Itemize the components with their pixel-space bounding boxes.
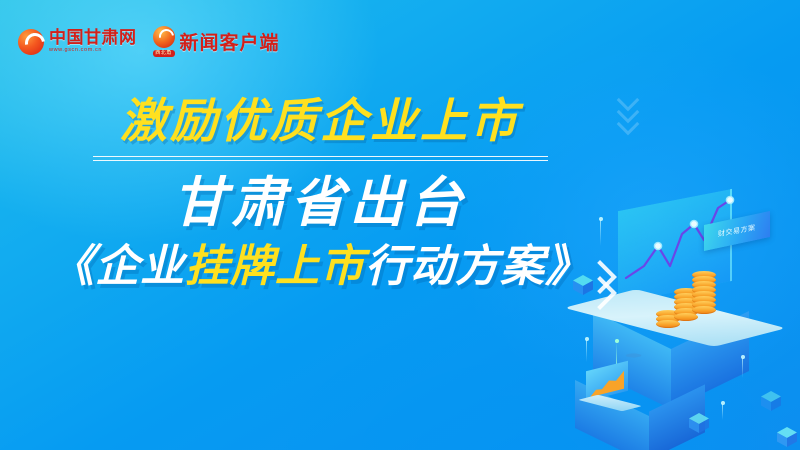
site-logo[interactable]: 中国甘肃网 www.gscn.com.cn (18, 29, 137, 55)
site-logo-name: 中国甘肃网 (49, 29, 137, 46)
accent-tick (586, 340, 587, 362)
accent-tick (742, 358, 743, 378)
logo-bar: 中国甘肃网 www.gscn.com.cn 西北角 新闻客户端 (18, 26, 280, 57)
subtitle-highlight: 挂牌上市 (185, 242, 365, 291)
app-logo-badge: 西北角 (153, 50, 175, 57)
subtitle-bracket-open: 《 (50, 242, 95, 291)
headline-main: 甘肃省出台 (0, 174, 640, 233)
floating-cube-icon (688, 412, 710, 434)
accent-tick (722, 404, 723, 420)
northwest-corner-swirl-logo-icon (153, 26, 175, 48)
floating-cube-icon (760, 390, 782, 412)
coin-stack-large (692, 271, 716, 314)
headline-subtitle: 《企业挂牌上市行动方案》 (0, 243, 640, 291)
scheme-tag-text: 财交易方案 (718, 223, 756, 240)
app-logo-mark-group: 西北角 (153, 26, 175, 57)
app-logo-name: 新闻客户端 (180, 28, 280, 55)
subtitle-part-3: 行动方案 (365, 242, 545, 291)
site-logo-text: 中国甘肃网 www.gscn.com.cn (49, 29, 137, 54)
floating-cube-icon (776, 426, 798, 448)
gansu-news-swirl-logo-icon (18, 29, 44, 55)
subtitle-bracket-close: 》 (545, 242, 590, 291)
site-logo-url: www.gscn.com.cn (49, 48, 137, 54)
app-logo[interactable]: 西北角 新闻客户端 (153, 26, 280, 57)
headline-block: 激励优质企业上市 甘肃省出台 《企业挂牌上市行动方案》 (0, 96, 640, 292)
headline-divider (93, 156, 548, 162)
poster-canvas: 中国甘肃网 www.gscn.com.cn 西北角 新闻客户端 激励优质企业上市… (0, 0, 800, 450)
coin-stacks (656, 278, 720, 328)
headline-kicker: 激励优质企业上市 (0, 96, 640, 147)
subtitle-part-1: 企业 (95, 242, 185, 291)
laptop-area-chart-icon (590, 371, 624, 397)
